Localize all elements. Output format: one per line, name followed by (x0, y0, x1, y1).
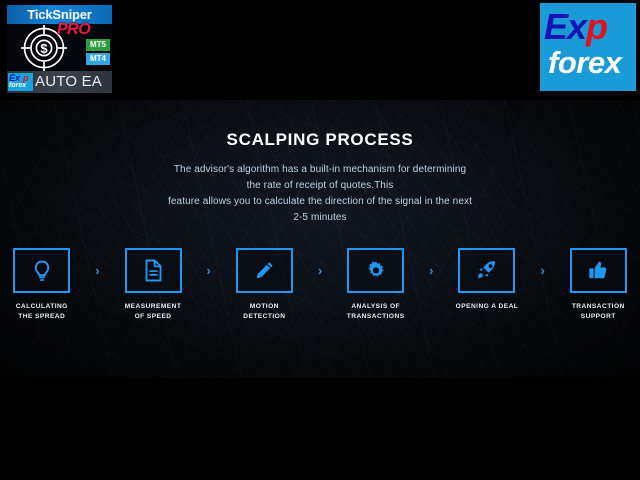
step-label-line-2: DETECTION (243, 312, 285, 322)
step-icon-box[interactable] (13, 248, 70, 293)
document-icon (144, 259, 163, 282)
thumbs-up-icon (587, 259, 609, 282)
step-label-line-1: OPENING A DEAL (456, 302, 519, 312)
rocket-icon (475, 259, 498, 282)
step-label-line-1: ANALYSIS OF (347, 302, 405, 312)
svg-text:$: $ (40, 41, 48, 56)
process-step-opening-a-deal[interactable]: OPENING A DEAL (445, 248, 528, 312)
gear-icon (365, 260, 387, 282)
page-title: SCALPING PROCESS (0, 130, 640, 150)
step-label-line-2: SUPPORT (572, 312, 625, 322)
expforex-exp-wordmark: Exp (544, 7, 607, 47)
content-band: SCALPING PROCESS The advisor's algorithm… (0, 100, 640, 378)
step-label: OPENING A DEAL (456, 302, 519, 312)
ticksniper-logo: TickSniper $ PRO MT5 MT4 Ex p forex AUTO… (7, 5, 112, 93)
step-label: MEASUREMENT OF SPEED (125, 302, 182, 322)
step-label-line-2: OF SPEED (125, 312, 182, 322)
process-step-analysis-of-transactions[interactable]: ANALYSIS OF TRANSACTIONS (334, 248, 417, 322)
expforex-mini-forex: forex (9, 81, 26, 90)
step-label-line-1: MEASUREMENT (125, 302, 182, 312)
description-line-3: feature allows you to calculate the dire… (0, 194, 640, 210)
expforex-exp-text: Ex (544, 6, 586, 47)
expforex-logo: Exp forex (540, 3, 636, 91)
step-icon-box[interactable] (236, 248, 293, 293)
pro-badge: PRO (57, 21, 90, 39)
mt4-badge: MT4 (86, 53, 110, 65)
step-label-line-1: CALCULATING (16, 302, 68, 312)
ticksniper-footer: Ex p forex AUTO EA (7, 71, 112, 93)
ticksniper-artwork: $ PRO MT5 MT4 (7, 24, 112, 71)
chevron-right-icon: › (306, 248, 334, 293)
chevron-right-icon: › (195, 248, 223, 293)
description-line-4: 2-5 minutes (0, 210, 640, 226)
description-text: The advisor's algorithm has a built-in m… (0, 162, 640, 226)
step-icon-box[interactable] (347, 248, 404, 293)
process-step-motion-detection[interactable]: MOTION DETECTION (223, 248, 306, 322)
expforex-p-text: p (586, 6, 607, 47)
step-label-line-1: TRANSACTION (572, 302, 625, 312)
chevron-right-icon: › (529, 248, 557, 293)
step-label-line-2: THE SPREAD (16, 312, 68, 322)
auto-ea-label: AUTO EA (35, 71, 102, 93)
promo-slide: SCALPING PROCESS The advisor's algorithm… (0, 0, 640, 480)
process-step-measurement-of-speed[interactable]: MEASUREMENT OF SPEED (111, 248, 194, 322)
step-icon-box[interactable] (458, 248, 515, 293)
step-label: MOTION DETECTION (243, 302, 285, 322)
process-steps: CALCULATING THE SPREAD › (0, 248, 640, 338)
step-icon-box[interactable] (125, 248, 182, 293)
letterbox-bottom (0, 378, 640, 480)
step-label: ANALYSIS OF TRANSACTIONS (347, 302, 405, 322)
pencil-icon (253, 260, 275, 282)
step-label-line-1: MOTION (243, 302, 285, 312)
expforex-mini-logo: Ex p forex (8, 73, 33, 91)
step-icon-box[interactable] (570, 248, 627, 293)
expforex-forex-wordmark: forex (548, 45, 621, 81)
process-step-transaction-support[interactable]: TRANSACTION SUPPORT (557, 248, 640, 322)
mt5-badge: MT5 (86, 39, 110, 51)
step-label-line-2: TRANSACTIONS (347, 312, 405, 322)
step-label: CALCULATING THE SPREAD (16, 302, 68, 322)
process-step-calculating-the-spread[interactable]: CALCULATING THE SPREAD (0, 248, 83, 322)
chevron-right-icon: › (417, 248, 445, 293)
description-line-2: the rate of receipt of quotes.This (0, 178, 640, 194)
step-label: TRANSACTION SUPPORT (572, 302, 625, 322)
lightbulb-icon (32, 260, 52, 282)
chevron-right-icon: › (83, 248, 111, 293)
description-line-1: The advisor's algorithm has a built-in m… (0, 162, 640, 178)
